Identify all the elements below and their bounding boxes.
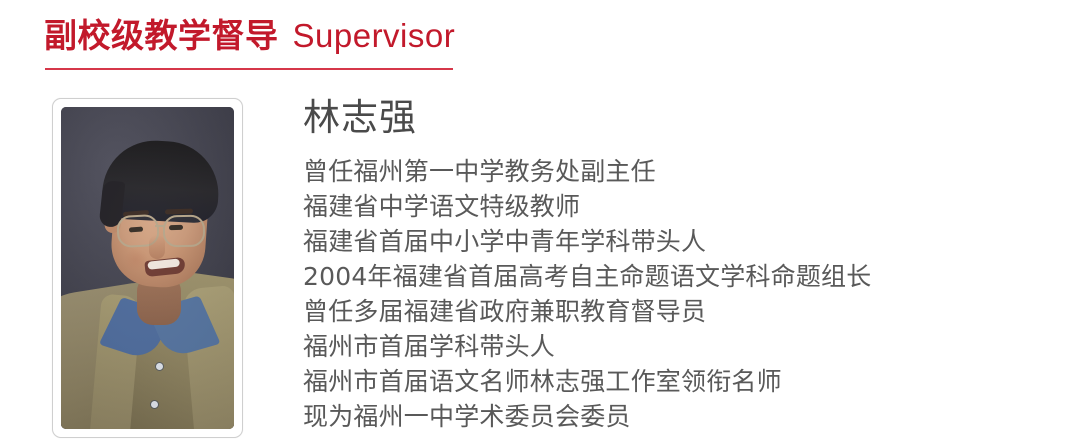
biography-item: 福建省首届中小学中青年学科带头人 — [303, 224, 1043, 259]
page-title: 副校级教学督导Supervisor — [44, 14, 1024, 58]
page-title-english: Supervisor — [279, 17, 456, 54]
eyebrow-right — [165, 209, 193, 215]
eyeglass-bridge — [155, 225, 165, 227]
person-name: 林志强 — [303, 94, 1043, 142]
biography-item: 2004年福建省首届高考自主命题语文学科命题组长 — [303, 259, 1043, 294]
biography-list: 曾任福州第一中学教务处副主任 福建省中学语文特级教师 福建省首届中小学中青年学科… — [303, 154, 1043, 434]
profile-details: 林志强 曾任福州第一中学教务处副主任 福建省中学语文特级教师 福建省首届中小学中… — [303, 94, 1043, 434]
shirt-button-upper — [156, 363, 163, 370]
biography-item: 福州市首届语文名师林志强工作室领衔名师 — [303, 364, 1043, 399]
page-header: 副校级教学督导Supervisor — [44, 14, 1024, 58]
portrait-photo — [61, 107, 234, 429]
teeth — [147, 258, 180, 269]
biography-item: 曾任福州第一中学教务处副主任 — [303, 154, 1043, 189]
nose — [149, 235, 165, 259]
shirt-button-lower — [151, 401, 158, 408]
biography-item: 福州市首届学科带头人 — [303, 329, 1043, 364]
eyeglass-lens-right — [163, 215, 206, 248]
title-underline-rule — [45, 68, 453, 70]
page-title-chinese: 副校级教学督导 — [44, 16, 279, 55]
biography-item: 现为福州一中学术委员会委员 — [303, 399, 1043, 434]
biography-item: 福建省中学语文特级教师 — [303, 189, 1043, 224]
portrait-photo-frame — [52, 98, 243, 438]
profile-page: 副校级教学督导Supervisor — [0, 0, 1080, 444]
biography-item: 曾任多届福建省政府兼职教育督导员 — [303, 294, 1043, 329]
